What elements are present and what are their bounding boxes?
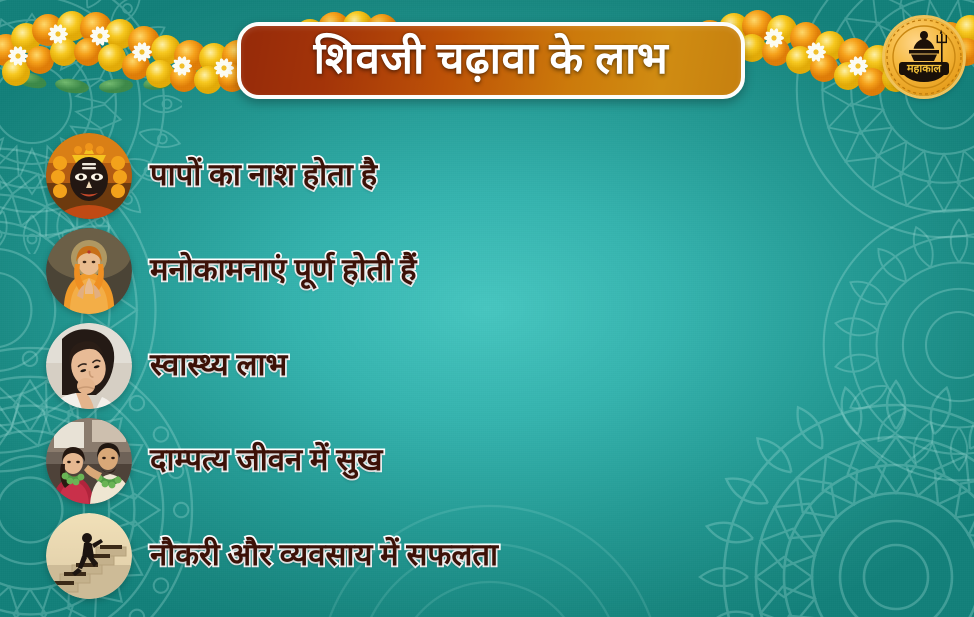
coughing-woman-icon (46, 323, 132, 409)
list-item[interactable]: मनोकामनाएं पूर्ण होती हैं (0, 223, 974, 318)
mahakal-logo-icon: महाकाल (885, 18, 963, 96)
poster-canvas: शिवजी चढ़ावा के लाभ महाकाल (0, 0, 974, 617)
page-title: शिवजी चढ़ावा के लाभ (314, 37, 669, 85)
benefit-text: नौकरी और व्यवसाय में सफलता (150, 539, 498, 572)
benefit-text: पापों का नाश होता है (150, 159, 377, 192)
stairs-climb-icon (46, 513, 132, 599)
praying-woman-icon (46, 228, 132, 314)
list-item[interactable]: दाम्पत्य जीवन में सुख (0, 413, 974, 508)
list-item[interactable]: पापों का नाश होता है (0, 128, 974, 223)
benefit-text: मनोकामनाएं पूर्ण होती हैं (150, 254, 416, 287)
svg-text:महाकाल: महाकाल (906, 63, 942, 75)
title-banner: शिवजी चढ़ावा के लाभ (237, 22, 745, 99)
benefits-list: पापों का नाश होता है (0, 128, 974, 603)
list-item[interactable]: नौकरी और व्यवसाय में सफलता (0, 508, 974, 603)
benefit-text: स्वास्थ्य लाभ (150, 349, 287, 382)
mahakal-logo[interactable]: महाकाल (885, 18, 963, 96)
benefit-text: दाम्पत्य जीवन में सुख (150, 444, 383, 477)
mahakal-deity-icon (46, 133, 132, 219)
wedding-couple-icon (46, 418, 132, 504)
list-item[interactable]: स्वास्थ्य लाभ (0, 318, 974, 413)
